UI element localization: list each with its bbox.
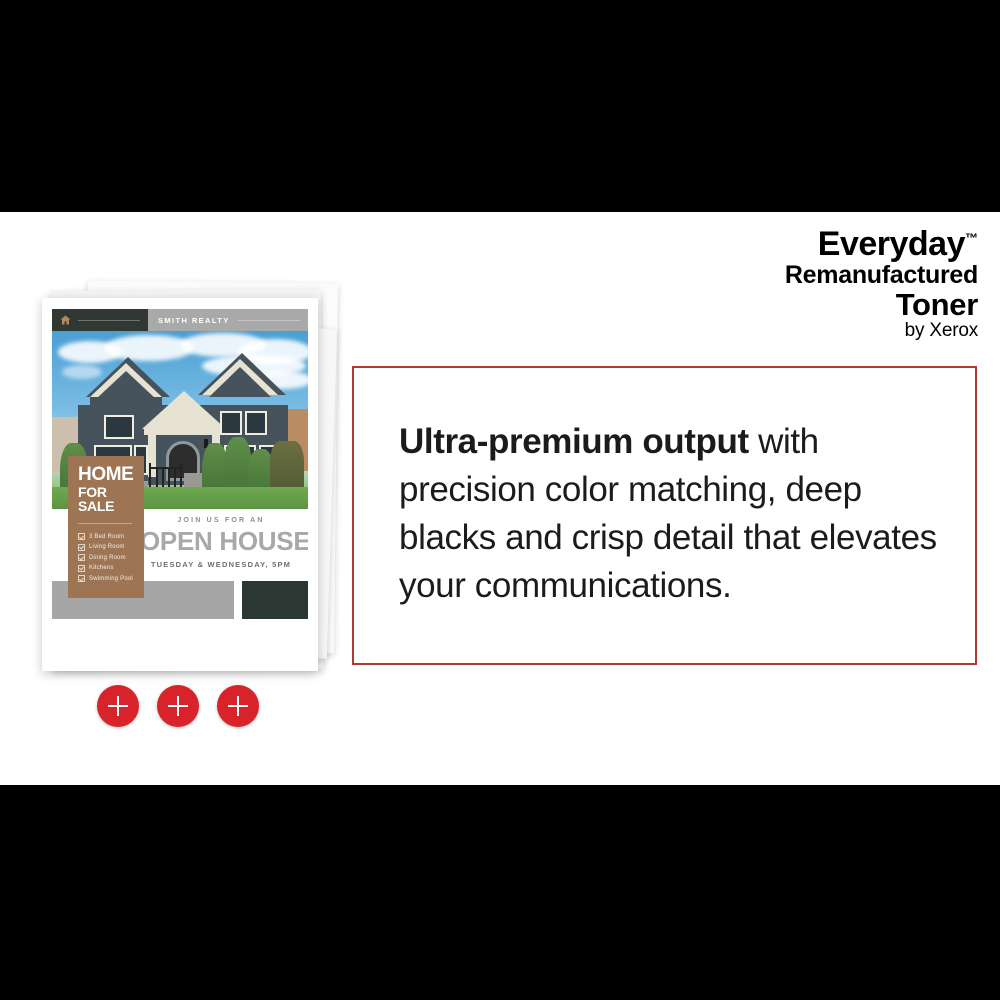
bottom-bar-gap — [234, 581, 242, 619]
copy-paragraph: Ultra-premium output with precision colo… — [399, 418, 939, 610]
feature-label: Dining Room — [89, 555, 126, 561]
feature-label: 3 Bed Room — [89, 534, 124, 540]
logo-line-remanufactured: Remanufactured — [785, 263, 978, 288]
feature-item: Kitchens — [78, 565, 136, 572]
letterbox-bottom — [0, 785, 1000, 1000]
sale-divider — [78, 523, 132, 524]
copy-lead: Ultra-premium output — [399, 422, 749, 461]
feature-item: Dining Room — [78, 554, 136, 561]
logo-line-everyday: Everyday™ — [785, 227, 978, 261]
feature-item: Swimming Pool — [78, 575, 136, 582]
window-upper-right-a — [220, 411, 242, 435]
copy-panel: Ultra-premium output with precision colo… — [352, 366, 977, 665]
event-when: TUESDAY & WEDNESDAY, 5PM — [140, 560, 302, 569]
add-hotspot-1[interactable] — [97, 685, 139, 727]
feature-label: Swimming Pool — [89, 576, 133, 582]
slide-stage: Everyday™ Remanufactured Toner by Xerox … — [0, 0, 1000, 1000]
logo-line-by-xerox: by Xerox — [785, 321, 978, 340]
everyday-toner-logo: Everyday™ Remanufactured Toner by Xerox — [785, 227, 978, 340]
sale-title-forsale: FOR SALE — [78, 485, 136, 513]
feature-item: Living Room — [78, 544, 136, 551]
realty-name: SMITH REALTY — [158, 316, 230, 325]
check-icon — [78, 544, 85, 551]
event-eyebrow: JOIN US FOR AN — [140, 517, 302, 524]
feature-list: 3 Bed Room Living Room Dining Room Kitch… — [78, 533, 136, 582]
check-icon — [78, 575, 85, 582]
letterbox-top — [0, 0, 1000, 212]
flyer-realty-block: SMITH REALTY — [148, 309, 308, 331]
flyer-artwork: SMITH REALTY — [52, 309, 308, 661]
feature-label: Kitchens — [89, 565, 114, 571]
check-icon — [78, 533, 85, 540]
check-icon — [78, 554, 85, 561]
add-hotspot-3[interactable] — [217, 685, 259, 727]
hotspot-button-row — [97, 685, 259, 727]
logo-line-toner: Toner — [785, 289, 978, 320]
feature-item: 3 Bed Room — [78, 533, 136, 540]
slide-content: Everyday™ Remanufactured Toner by Xerox … — [0, 212, 1000, 785]
flyer-header: SMITH REALTY — [52, 309, 308, 331]
window-upper-left — [104, 415, 134, 439]
event-text-group: JOIN US FOR AN OPEN HOUSE TUESDAY & WEDN… — [140, 517, 302, 569]
window-upper-right-b — [245, 411, 267, 435]
flyer-brand-block — [52, 309, 148, 331]
add-hotspot-2[interactable] — [157, 685, 199, 727]
brand-rule — [78, 320, 140, 321]
home-for-sale-card: HOME FOR SALE 3 Bed Room Living Room Din… — [68, 456, 144, 598]
home-icon — [59, 314, 72, 326]
realty-rule — [238, 320, 300, 321]
feature-label: Living Room — [89, 544, 125, 550]
trademark-symbol: ™ — [965, 231, 978, 246]
sale-title-home: HOME — [78, 466, 136, 484]
check-icon — [78, 565, 85, 572]
flyer-sheet[interactable]: SMITH REALTY — [42, 298, 318, 671]
event-headline: OPEN HOUSE — [140, 528, 302, 555]
house-gable-center — [142, 391, 226, 429]
flyer-stack: SMITH REALTY — [42, 280, 352, 700]
bottom-bar-green — [242, 581, 308, 619]
fence-rail — [149, 467, 183, 469]
